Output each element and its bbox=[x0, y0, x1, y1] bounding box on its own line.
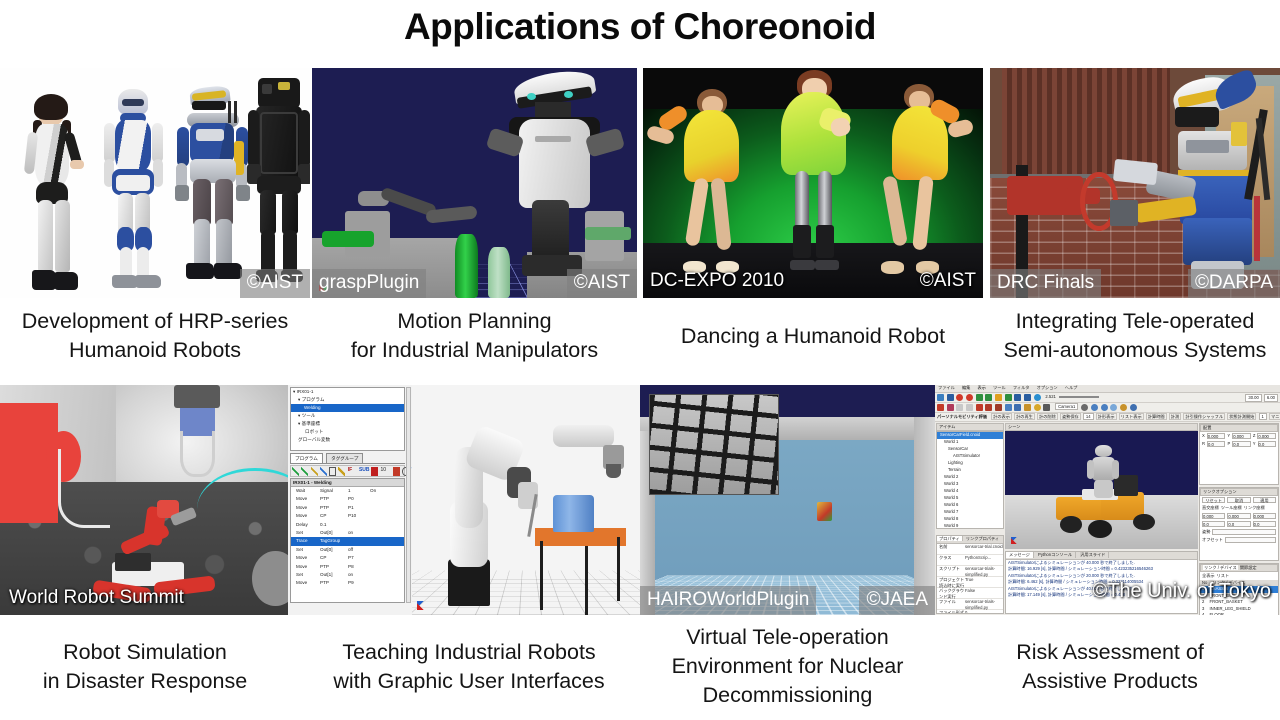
property-row[interactable]: プロジェクト読込時に実行 True bbox=[937, 577, 1003, 588]
link-apply-button[interactable]: 適用 bbox=[1253, 497, 1276, 503]
radio-link[interactable]: リンク座標 bbox=[1244, 505, 1265, 511]
counter-icon[interactable]: 10 bbox=[381, 467, 391, 476]
sub-icon[interactable]: SUB bbox=[359, 467, 369, 476]
overlay-copyright-jaea: ©JAEA bbox=[859, 586, 935, 615]
link-extra-row-2[interactable]: オフセット bbox=[1200, 536, 1278, 544]
tree-label: World 8 bbox=[944, 516, 958, 521]
save-icon[interactable] bbox=[937, 394, 944, 401]
frame-icon[interactable] bbox=[329, 467, 336, 476]
tree-label: ツール bbox=[302, 413, 316, 418]
cmd-cell: Move bbox=[296, 554, 320, 562]
link-buttons-row[interactable]: リセット 取消 適用 bbox=[1200, 496, 1278, 504]
link-field-x[interactable]: 0.000 bbox=[1202, 513, 1225, 519]
circle-icon-1[interactable] bbox=[1091, 404, 1098, 411]
cmd-cell: Wait bbox=[296, 487, 320, 495]
program-row[interactable]: Set Out[0] on bbox=[291, 529, 404, 537]
property-value[interactable]: sensorcar-trials-simplified.py bbox=[965, 599, 1003, 609]
panel-hrp-series[interactable]: ©AIST bbox=[0, 68, 310, 298]
item-pane[interactable]: アイテム SensorCarField.cnoid World 1 Sensor… bbox=[936, 423, 1004, 614]
tree-node[interactable]: Terrain bbox=[937, 467, 1003, 474]
property-value[interactable]: 0 bbox=[965, 610, 1003, 614]
tree-node[interactable]: AISTSimulator bbox=[937, 453, 1003, 460]
pose-value-r[interactable]: 0.0 bbox=[1207, 441, 1225, 447]
pose-value-y[interactable]: 0.000 bbox=[1232, 433, 1251, 439]
program-row-selected[interactable]: Trace TagGroup bbox=[291, 537, 404, 545]
tree-label: ロボット bbox=[305, 429, 323, 434]
item-pane-title: アイテム bbox=[936, 423, 1004, 431]
caption-line: with Graphic User Interfaces bbox=[298, 667, 640, 696]
circle-icon-3[interactable] bbox=[1110, 404, 1117, 411]
overlay-grasp-plugin-label: graspPlugin bbox=[312, 269, 426, 298]
property-key: クラス bbox=[937, 555, 965, 565]
gripper-head bbox=[174, 385, 220, 408]
mobility-btn-5[interactable]: 計形表示 bbox=[1096, 413, 1117, 420]
target-object bbox=[817, 502, 832, 520]
caption-line: Teaching Industrial Robots bbox=[298, 638, 640, 667]
tree-node[interactable]: World 7 bbox=[937, 509, 1003, 516]
program-row[interactable]: Move PTP P1 bbox=[291, 504, 404, 512]
cmd-cell: Move bbox=[296, 495, 320, 503]
panel-grasp-plugin[interactable]: graspPlugin ©AIST bbox=[312, 68, 637, 298]
solid-icon[interactable] bbox=[995, 404, 1002, 411]
menu-tools[interactable]: ツール bbox=[993, 385, 1006, 390]
arg1-cell: Signal bbox=[320, 487, 348, 495]
menu-file[interactable]: ファイル bbox=[938, 385, 955, 390]
scene-pane-title: シーン bbox=[1005, 423, 1198, 431]
line-icon[interactable] bbox=[320, 467, 327, 476]
robot-hrp4c bbox=[18, 96, 96, 292]
arg2-cell: P9 bbox=[348, 579, 370, 587]
play-icon-2[interactable] bbox=[1024, 394, 1031, 401]
refresh-icon[interactable] bbox=[1034, 394, 1041, 401]
property-key: ファイル bbox=[937, 599, 965, 609]
link-field-y[interactable]: 0.000 bbox=[1227, 513, 1250, 519]
shadow-icon[interactable] bbox=[1024, 404, 1031, 411]
tab-program[interactable]: プログラム bbox=[290, 453, 323, 463]
caption-line: in Disaster Response bbox=[0, 667, 290, 696]
caption-line: Robot Simulation bbox=[0, 638, 290, 667]
robot-hrp5p bbox=[248, 78, 310, 292]
caption-line: Decommissioning bbox=[640, 681, 935, 710]
tree-node[interactable]: World 2 bbox=[937, 474, 1003, 481]
caption-line: Dancing a Humanoid Robot bbox=[643, 322, 983, 351]
program-row[interactable]: Move PTP P0 bbox=[291, 495, 404, 503]
menu-edit[interactable]: 編集 bbox=[962, 385, 970, 390]
pose-key-r: R bbox=[1202, 441, 1205, 447]
open-icon[interactable] bbox=[947, 394, 954, 401]
tree-node[interactable]: ▾ IRX01-1 bbox=[291, 388, 404, 396]
pose-key-p: P bbox=[1227, 441, 1230, 447]
light-icon[interactable] bbox=[1034, 404, 1041, 411]
marker-icon[interactable] bbox=[371, 467, 378, 476]
caption-hrp-series: Development of HRP-series Humanoid Robot… bbox=[0, 307, 310, 365]
message-tabs[interactable]: メッセージ Pythonコンソール 汎用スライド bbox=[1006, 552, 1197, 560]
field-1[interactable]: 6.00 bbox=[1264, 394, 1278, 402]
caption-line: Integrating Tele-operated bbox=[990, 307, 1280, 336]
radio-cartesian[interactable]: 直交座標 bbox=[1202, 505, 1219, 511]
link-radios-row[interactable]: 直交座標 ツール座標 リンク座標 bbox=[1200, 504, 1278, 512]
minus-icon[interactable] bbox=[966, 404, 973, 411]
plus-icon[interactable] bbox=[956, 404, 963, 411]
arg2-cell: P8 bbox=[348, 563, 370, 571]
link-field-p[interactable]: 0.0 bbox=[1227, 521, 1250, 527]
step-forward-icon[interactable] bbox=[976, 394, 983, 401]
dancer-right bbox=[881, 84, 969, 268]
circle-icon-4[interactable] bbox=[1120, 404, 1127, 411]
property-row[interactable]: ファイル形式 0 bbox=[937, 610, 1003, 614]
line-icon[interactable] bbox=[292, 467, 299, 476]
arg2-cell: on bbox=[348, 529, 370, 537]
caption-line: Assistive Products bbox=[940, 667, 1280, 696]
circle-icon-5[interactable] bbox=[1130, 404, 1137, 411]
tab-tag-group[interactable]: タググループ bbox=[326, 453, 363, 463]
program-row[interactable]: Move CP P10 bbox=[291, 512, 404, 520]
mobility-btn-8[interactable]: 計測 bbox=[1169, 413, 1181, 420]
green-object-right bbox=[585, 227, 631, 241]
trash-icon[interactable] bbox=[393, 467, 400, 476]
mobility-count[interactable]: 14 bbox=[1083, 413, 1094, 420]
tree-node[interactable]: ▾ ツール bbox=[291, 412, 404, 420]
link-extra-key-offset: オフセット bbox=[1202, 537, 1223, 543]
circle-icon-2[interactable] bbox=[1101, 404, 1108, 411]
property-row[interactable]: クラス PythonScrip... bbox=[937, 555, 1003, 566]
program-row[interactable]: Set Out[0] off bbox=[291, 546, 404, 554]
green-object-left bbox=[322, 231, 374, 247]
green-bottle-dark bbox=[455, 234, 478, 298]
device-name: FLOOR bbox=[1210, 612, 1224, 615]
line-icon[interactable] bbox=[311, 467, 318, 476]
cmd-cell: Set bbox=[296, 546, 320, 554]
pose-section[interactable]: 配置 X 0.000 Y 0.000 Z 0.000 R 0.0 P 0.0 bbox=[1199, 423, 1279, 485]
tree-expander-icon[interactable]: ▾ bbox=[298, 421, 300, 426]
overlay-copyright-aist-3: ©AIST bbox=[913, 267, 983, 296]
link-extra-value-pose[interactable] bbox=[1212, 529, 1276, 535]
toolbar-mobility-assessment[interactable]: パーソナルモビリティ評価 計の表示 計の再生 計の削除 姿勢保存 14 計形表示… bbox=[935, 413, 1280, 422]
link-field-yaw[interactable]: 0.0 bbox=[1253, 521, 1276, 527]
tree-expander-icon[interactable]: ▾ bbox=[298, 413, 300, 418]
link-extra-row-1[interactable]: 姿勢 bbox=[1200, 528, 1278, 536]
first-person-icon[interactable] bbox=[976, 404, 983, 411]
link-fields-row-2[interactable]: 0.0 0.0 0.0 bbox=[1200, 520, 1278, 528]
link-device-tab-2[interactable]: 関節設定 bbox=[1239, 565, 1258, 570]
origin-axes-icon bbox=[417, 601, 426, 610]
property-row[interactable]: スクリプト sensorcar-trials-simplified.py bbox=[937, 566, 1003, 577]
cmd-cell: Trace bbox=[296, 537, 320, 545]
tree-label: Welding bbox=[304, 405, 321, 410]
mobility-btn-4[interactable]: 姿勢保存 bbox=[1060, 413, 1081, 420]
gripper-claw bbox=[180, 431, 215, 477]
if-icon[interactable]: IF bbox=[348, 467, 357, 476]
menu-help[interactable]: ヘルプ bbox=[1065, 385, 1078, 390]
view-mode-icon[interactable] bbox=[947, 404, 954, 411]
pose-key-z: Z bbox=[1253, 433, 1256, 439]
overlay-copyright-darpa: ©DARPA bbox=[1188, 269, 1280, 298]
play-icon[interactable] bbox=[1014, 394, 1021, 401]
tree-node[interactable]: ▾ プログラム bbox=[291, 396, 404, 404]
table-leg bbox=[617, 537, 620, 601]
arg1-cell: Out[1] bbox=[320, 571, 348, 579]
table-leg bbox=[540, 541, 543, 610]
pose-value-x[interactable]: 0.000 bbox=[1207, 433, 1226, 439]
vertical-scrollbar[interactable] bbox=[406, 387, 411, 603]
program-row[interactable]: Move PTP P9 bbox=[291, 579, 404, 587]
pause-icon[interactable] bbox=[995, 394, 1002, 401]
mobility-btn-6[interactable]: リスト表示 bbox=[1119, 413, 1144, 420]
overlay-copyright-aist-1: ©AIST bbox=[240, 269, 310, 298]
mobility-toolbar-label: パーソナルモビリティ評価 bbox=[937, 414, 987, 419]
arg2-cell: 1 bbox=[348, 487, 370, 495]
link-reset-button[interactable]: リセット bbox=[1202, 497, 1225, 503]
drum-object bbox=[252, 551, 290, 606]
arg2-cell: P10 bbox=[348, 512, 370, 520]
property-row[interactable]: ファイル sensorcar-trials-simplified.py bbox=[937, 599, 1003, 610]
tree-node[interactable]: World 9 bbox=[937, 523, 1003, 529]
link-cancel-button[interactable]: 取消 bbox=[1227, 497, 1250, 503]
property-value[interactable]: False bbox=[965, 588, 1003, 598]
cmd-cell: Set bbox=[296, 571, 320, 579]
property-value[interactable]: PythonScrip... bbox=[965, 555, 1003, 565]
blue-workpiece bbox=[553, 495, 594, 532]
property-pane[interactable]: プロパティ リンクプロパティ 名前 sensorcar-trial.cnoid … bbox=[936, 535, 1004, 614]
pose-row-2[interactable]: R 0.0 P 0.0 Y 0.0 bbox=[1200, 440, 1278, 448]
program-row[interactable]: Wait Signal 1 On bbox=[291, 487, 404, 495]
wireframe-icon[interactable] bbox=[985, 404, 992, 411]
arg2-cell: on bbox=[348, 571, 370, 579]
tree-node[interactable]: SensorCar bbox=[937, 446, 1003, 453]
tree-node[interactable]: World 3 bbox=[937, 481, 1003, 488]
property-value[interactable]: sensorcar-trials-simplified.py bbox=[965, 566, 1003, 576]
drc-robot bbox=[1152, 75, 1280, 291]
cmd-cell: Delay bbox=[296, 521, 320, 529]
tree-node[interactable]: ロボット bbox=[291, 428, 404, 436]
origin-axes-icon bbox=[1011, 537, 1018, 544]
arg1-cell: PTP bbox=[320, 563, 348, 571]
tree-label: 基準座標 bbox=[302, 421, 320, 426]
property-row[interactable]: バックグラウンド実行 False bbox=[937, 588, 1003, 599]
robot-hrp2 bbox=[172, 87, 256, 292]
tree-label: World 3 bbox=[944, 481, 958, 486]
tree-node[interactable]: Lighting bbox=[937, 460, 1003, 467]
caption-hairo: Virtual Tele-operation Environment for N… bbox=[640, 623, 935, 710]
tree-label: World 4 bbox=[944, 488, 958, 493]
menu-bar[interactable]: ファイル 編集 表示 ツール フィルタ オプション ヘルプ bbox=[935, 385, 1280, 393]
tree-node-selected[interactable]: Welding bbox=[291, 404, 404, 412]
link-option-title: リンクオプション bbox=[1200, 488, 1278, 496]
pose-value-p[interactable]: 0.0 bbox=[1232, 441, 1250, 447]
link-option-section[interactable]: リンクオプション リセット 取消 適用 直交座標 ツール座標 リンク座標 0.0… bbox=[1199, 487, 1279, 561]
arg1-cell: PTP bbox=[320, 504, 348, 512]
program-row[interactable]: Move PTP P8 bbox=[291, 563, 404, 571]
program-row[interactable]: Move CP P7 bbox=[291, 554, 404, 562]
caption-dancing: Dancing a Humanoid Robot bbox=[643, 322, 983, 351]
mobility-btn-1[interactable]: 計の表示 bbox=[991, 413, 1012, 420]
tree-node[interactable]: World 5 bbox=[937, 495, 1003, 502]
pose-row-1[interactable]: X 0.000 Y 0.000 Z 0.000 bbox=[1200, 432, 1278, 440]
arg1-cell: TagGroup bbox=[320, 537, 348, 545]
panel-drc-finals[interactable]: DRC Finals ©DARPA bbox=[990, 68, 1280, 298]
tree-node-selected[interactable]: SensorCarField.cnoid bbox=[937, 432, 1003, 439]
gear-icon[interactable] bbox=[1081, 404, 1088, 411]
caption-line: for Industrial Manipulators bbox=[312, 336, 637, 365]
toolbar-scene[interactable]: Camera1 bbox=[935, 403, 1280, 413]
program-toolbar[interactable]: IF SUB 10 ? bbox=[290, 465, 405, 477]
camera-icon[interactable] bbox=[1043, 404, 1050, 411]
link-extra-key-pose: 姿勢 bbox=[1202, 529, 1210, 535]
program-tree[interactable]: ▾ IRX01-1 ▾ プログラム Welding ▾ ツール ▾ 基準座標 bbox=[290, 387, 405, 451]
mobility-btn-7[interactable]: 計算時間 bbox=[1146, 413, 1167, 420]
cmd-cell: Move bbox=[296, 563, 320, 571]
tree-node[interactable]: World 4 bbox=[937, 488, 1003, 495]
dancer-robot-hrp4c bbox=[772, 70, 860, 268]
stop-icon[interactable] bbox=[1005, 394, 1012, 401]
tree-label: World 9 bbox=[944, 523, 958, 528]
property-value[interactable]: sensorcar-trial.cnoid bbox=[965, 544, 1003, 554]
panel-world-robot-summit[interactable]: World Robot Summit bbox=[0, 385, 290, 615]
panel-dancing-robot[interactable]: DC-EXPO 2010 ©AIST bbox=[643, 68, 983, 298]
record-icon[interactable] bbox=[956, 394, 963, 401]
tree-label: プログラム bbox=[302, 397, 325, 402]
slide-root: Applications of Choreonoid bbox=[0, 0, 1280, 720]
tree-node[interactable]: World 1 bbox=[937, 439, 1003, 446]
tree-node[interactable]: World 8 bbox=[937, 516, 1003, 523]
link-device-title: リンク / デバイス 関節設定 bbox=[1200, 564, 1278, 572]
panel-teaching-simulation[interactable] bbox=[412, 385, 640, 615]
arg2-cell: P0 bbox=[348, 495, 370, 503]
tab-message[interactable]: メッセージ bbox=[1006, 552, 1034, 558]
toolbar-file[interactable]: 2.521 6.00 30.00 bbox=[935, 393, 1280, 403]
tab-python-console[interactable]: Pythonコンソール bbox=[1035, 552, 1076, 558]
tree-label: IRX01-1 bbox=[297, 389, 314, 394]
overlay-hairo-plugin-label: HAIROWorldPlugin bbox=[640, 586, 816, 615]
green-bottle-light bbox=[488, 247, 511, 298]
tree-label: SensorCarField.cnoid bbox=[940, 432, 980, 437]
arg1-cell: 0.1 bbox=[320, 521, 348, 529]
panel-teaching-gui[interactable]: ▾ IRX01-1 ▾ プログラム Welding ▾ ツール ▾ 基準座標 bbox=[288, 385, 412, 615]
tab-properties[interactable]: プロパティ bbox=[937, 536, 963, 541]
mobility-btn-11[interactable]: マニュアル操作 bbox=[1269, 413, 1280, 420]
arrow-right-icon[interactable] bbox=[985, 394, 992, 401]
device-no: 4 bbox=[1202, 612, 1204, 615]
caption-drc: Integrating Tele-operated Semi-autonomou… bbox=[990, 307, 1280, 365]
link-field-z[interactable]: 0.000 bbox=[1253, 513, 1276, 519]
collision-icon[interactable] bbox=[1005, 404, 1012, 411]
device-row[interactable]: 4 FLOOR bbox=[1200, 612, 1278, 615]
panel-risk-assessment-ide[interactable]: ファイル 編集 表示 ツール フィルタ オプション ヘルプ bbox=[935, 385, 1280, 615]
arg1-cell: CP bbox=[320, 512, 348, 520]
tree-label: World 1 bbox=[944, 439, 958, 444]
record-icon-2[interactable] bbox=[966, 394, 973, 401]
pose-value-z[interactable]: 0.000 bbox=[1257, 433, 1276, 439]
program-row[interactable]: Delay 0.1 bbox=[291, 521, 404, 529]
overlay-copyright-aist-2: ©AIST bbox=[567, 269, 637, 298]
program-row[interactable]: Set Out[1] on bbox=[291, 571, 404, 579]
scene-3d-view[interactable] bbox=[1005, 431, 1198, 549]
time-slider[interactable] bbox=[1059, 396, 1099, 398]
mobility-btn-2[interactable]: 計の再生 bbox=[1014, 413, 1035, 420]
arg3-cell: On bbox=[370, 487, 390, 495]
mobility-btn-3[interactable]: 計の削除 bbox=[1037, 413, 1058, 420]
dancer-left bbox=[670, 89, 758, 268]
arg1-cell: PTP bbox=[320, 579, 348, 587]
pose-value-yaw[interactable]: 0.0 bbox=[1258, 441, 1276, 447]
tree-node[interactable]: グローバル変数 bbox=[291, 436, 404, 444]
tree-expander-icon[interactable]: ▾ bbox=[298, 397, 300, 402]
pose-key-y: Y bbox=[1227, 433, 1230, 439]
link-fields-row-1[interactable]: 0.000 0.000 0.000 bbox=[1200, 512, 1278, 520]
arg1-cell: Out[0] bbox=[320, 529, 348, 537]
tree-label: AISTSimulator bbox=[953, 453, 980, 458]
menu-filters[interactable]: フィルタ bbox=[1013, 385, 1030, 390]
overlay-world-robot-summit-label: World Robot Summit bbox=[2, 584, 191, 613]
link-extra-value-offset[interactable] bbox=[1225, 537, 1276, 543]
camera-select[interactable]: Camera1 bbox=[1055, 403, 1078, 410]
edit-mode-icon[interactable] bbox=[937, 404, 944, 411]
field-2[interactable]: 30.00 bbox=[1245, 394, 1261, 402]
mobility-btn-9[interactable]: 計引操作シャッフル bbox=[1183, 413, 1225, 420]
caption-line: Humanoid Robots bbox=[0, 336, 310, 365]
tree-expander-icon[interactable]: ▾ bbox=[293, 389, 295, 394]
dummy-mannequin bbox=[1086, 445, 1121, 499]
overlay-dc-expo-label: DC-EXPO 2010 bbox=[643, 267, 791, 296]
property-value[interactable]: True bbox=[965, 577, 1003, 587]
grid-icon[interactable] bbox=[1014, 404, 1021, 411]
camera-inset-view bbox=[649, 394, 779, 495]
link-field-r[interactable]: 0.0 bbox=[1202, 521, 1225, 527]
panel-hairo-world[interactable]: HAIROWorldPlugin ©JAEA bbox=[640, 385, 935, 615]
caption-line: Virtual Tele-operation bbox=[640, 623, 935, 652]
caption-line: Development of HRP-series bbox=[0, 307, 310, 336]
caption-line: Environment for Nuclear bbox=[640, 652, 935, 681]
tree-node[interactable]: ▾ 基準座標 bbox=[291, 420, 404, 428]
cmd-cell: Set bbox=[296, 529, 320, 537]
menu-view[interactable]: 表示 bbox=[978, 385, 986, 390]
caption-line: Risk Assessment of bbox=[940, 638, 1280, 667]
mobility-index[interactable]: 1 bbox=[1259, 413, 1267, 420]
cmd-cell: Move bbox=[296, 512, 320, 520]
menu-options[interactable]: オプション bbox=[1037, 385, 1058, 390]
caption-world-robot-summit: Robot Simulation in Disaster Response bbox=[0, 638, 290, 696]
teaching-gui-window[interactable]: ▾ IRX01-1 ▾ プログラム Welding ▾ ツール ▾ 基準座標 bbox=[288, 385, 412, 615]
property-row[interactable]: 名前 sensorcar-trial.cnoid bbox=[937, 544, 1003, 555]
tab-general-slider[interactable]: 汎用スライド bbox=[1077, 552, 1109, 558]
property-key: プロジェクト読込時に実行 bbox=[937, 577, 965, 587]
cmd-cell: Move bbox=[296, 504, 320, 512]
property-key: スクリプト bbox=[937, 566, 965, 576]
item-tree[interactable]: SensorCarField.cnoid World 1 SensorCar A… bbox=[936, 431, 1004, 529]
property-key: バックグラウンド実行 bbox=[937, 588, 965, 598]
pencil-icon[interactable] bbox=[338, 467, 345, 476]
program-list[interactable]: IRX01-1 - Welding Wait Signal 1 On Move … bbox=[290, 478, 405, 603]
tree-label: World 6 bbox=[944, 502, 958, 507]
line-icon[interactable] bbox=[301, 467, 308, 476]
tab-link-properties[interactable]: リンクプロパティ bbox=[964, 536, 1001, 541]
radio-tool[interactable]: ツール座標 bbox=[1221, 505, 1242, 511]
arg1-cell: PTP bbox=[320, 495, 348, 503]
caption-grasp-plugin: Motion Planning for Industrial Manipulat… bbox=[312, 307, 637, 365]
program-tabs[interactable]: プログラム タググループ bbox=[290, 453, 405, 464]
tree-node[interactable]: World 6 bbox=[937, 502, 1003, 509]
cmd-cell: Move bbox=[296, 579, 320, 587]
program-list-header: IRX01-1 - Welding bbox=[291, 479, 404, 487]
property-key: ファイル形式 bbox=[937, 610, 965, 614]
tree-label: Terrain bbox=[948, 467, 961, 472]
arg1-cell: Out[0] bbox=[320, 546, 348, 554]
caption-risk-assessment: Risk Assessment of Assistive Products bbox=[940, 638, 1280, 696]
arg2-cell: P1 bbox=[348, 504, 370, 512]
tree-label: World 7 bbox=[944, 509, 958, 514]
link-device-tab-1[interactable]: リンク / デバイス bbox=[1203, 565, 1238, 570]
mobility-btn-10[interactable]: 状態計測開始 bbox=[1227, 413, 1256, 420]
